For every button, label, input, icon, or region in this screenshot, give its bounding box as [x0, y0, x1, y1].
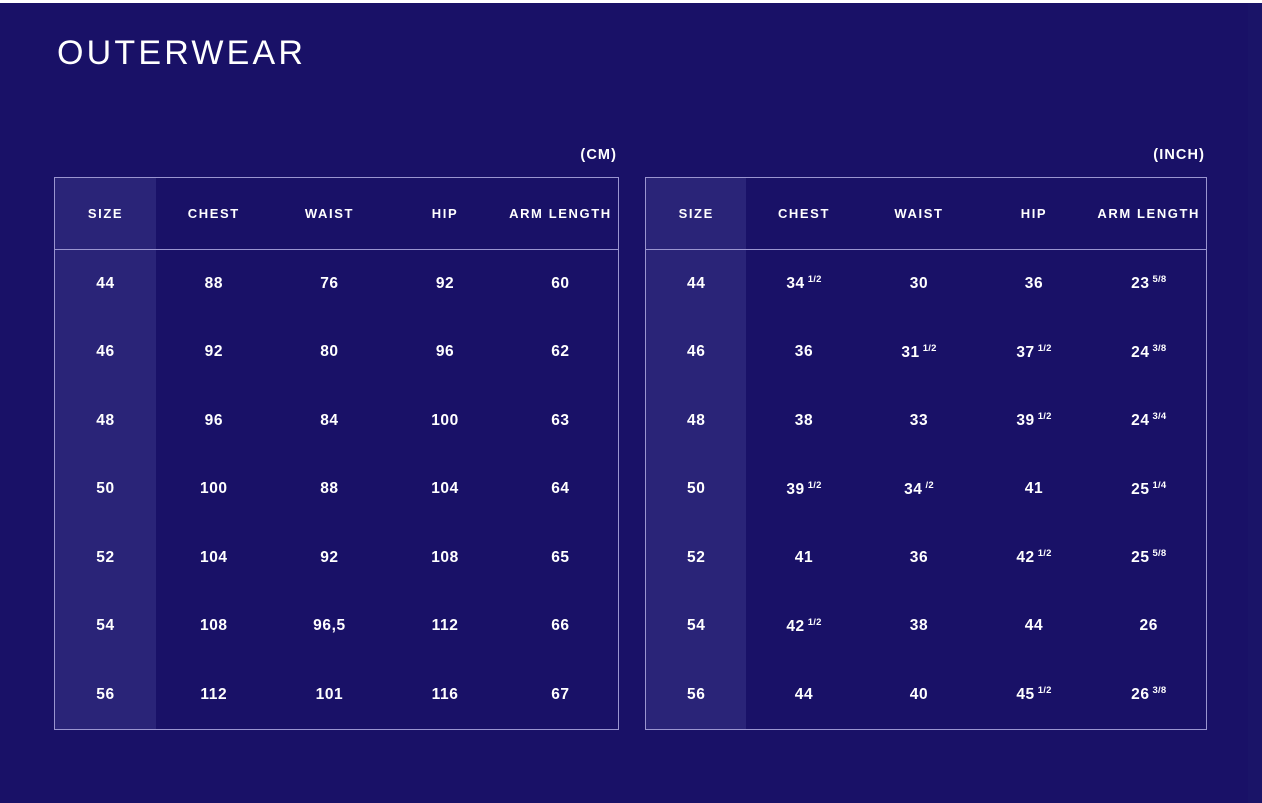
cell-chest: 92: [156, 318, 272, 387]
cell-value: 371/2: [1016, 343, 1051, 362]
cell-hip: 451/2: [976, 661, 1091, 730]
column-header-waist: WAIST: [272, 178, 388, 250]
cell-value: 30: [910, 275, 928, 293]
cell-value: 421/2: [786, 617, 821, 636]
table-row: 44341/23036235/8: [646, 250, 1207, 319]
cell-fraction: 1/2: [808, 274, 822, 285]
cell-hip: 92: [387, 250, 503, 319]
column-header-hip: HIP: [976, 178, 1091, 250]
cell-size: 54: [55, 592, 157, 661]
cell-whole-number: 38: [910, 617, 928, 634]
cell-whole-number: 34: [904, 481, 922, 498]
cell-fraction: 1/4: [1153, 480, 1167, 491]
page-edge: [1248, 3, 1262, 803]
cell-value: 54: [687, 617, 705, 635]
cell-value: 243/4: [1131, 411, 1166, 430]
cell-arm-length: 66: [503, 592, 619, 661]
cell-hip: 391/2: [976, 387, 1091, 456]
unit-label-inch: (INCH): [645, 145, 1207, 177]
cell-waist: 311/2: [861, 318, 976, 387]
cell-value: 235/8: [1131, 274, 1166, 293]
cell-chest: 100: [156, 455, 272, 524]
cell-whole-number: 44: [687, 275, 705, 292]
cell-fraction: 3/8: [1153, 685, 1167, 696]
cell-hip: 371/2: [976, 318, 1091, 387]
column-header-arm-length: ARM LENGTH: [503, 178, 619, 250]
cell-chest: 104: [156, 524, 272, 593]
cell-chest: 41: [746, 524, 861, 593]
cell-value: 341/2: [786, 274, 821, 293]
cell-whole-number: 37: [1016, 344, 1034, 361]
cell-value: 36: [1025, 275, 1043, 293]
cell-whole-number: 41: [795, 549, 813, 566]
cell-arm-length: 235/8: [1091, 250, 1206, 319]
cell-whole-number: 56: [687, 686, 705, 703]
cell-size: 50: [55, 455, 157, 524]
cell-size: 56: [646, 661, 747, 730]
cell-size: 48: [646, 387, 747, 456]
table-row: 524136421/2255/8: [646, 524, 1207, 593]
page-title: OUTERWEAR: [57, 31, 306, 75]
cell-fraction: 3/4: [1153, 411, 1167, 422]
cell-chest: 88: [156, 250, 272, 319]
cell-value: 36: [795, 343, 813, 361]
column-header-size: SIZE: [55, 178, 157, 250]
cell-whole-number: 42: [786, 618, 804, 635]
cell-value: 26: [1140, 617, 1158, 635]
cell-waist: 34/2: [861, 455, 976, 524]
cell-waist: 36: [861, 524, 976, 593]
cell-waist: 101: [272, 661, 388, 730]
cell-hip: 96: [387, 318, 503, 387]
cell-whole-number: 50: [687, 480, 705, 497]
size-table-cm-block: (CM) SIZE CHEST WAIST HIP ARM LENGTH 448…: [54, 145, 619, 730]
cell-chest: 112: [156, 661, 272, 730]
cell-arm-length: 243/8: [1091, 318, 1206, 387]
cell-value: 311/2: [901, 343, 936, 362]
size-chart-page: OUTERWEAR (CM) SIZE CHEST WAIST HIP ARM …: [0, 3, 1248, 803]
cell-whole-number: 44: [1025, 617, 1043, 634]
cell-chest: 38: [746, 387, 861, 456]
cell-whole-number: 36: [910, 549, 928, 566]
cell-whole-number: 26: [1140, 617, 1158, 634]
column-header-size: SIZE: [646, 178, 747, 250]
cell-whole-number: 34: [786, 276, 804, 293]
cell-value: 48: [687, 412, 705, 430]
cell-fraction: 1/2: [1038, 548, 1052, 559]
cell-arm-length: 62: [503, 318, 619, 387]
cell-whole-number: 23: [1131, 276, 1149, 293]
cell-fraction: 1/2: [808, 617, 822, 628]
cell-whole-number: 40: [910, 686, 928, 703]
cell-value: 52: [687, 549, 705, 567]
cell-chest: 96: [156, 387, 272, 456]
cell-size: 56: [55, 661, 157, 730]
cell-whole-number: 44: [795, 686, 813, 703]
cell-whole-number: 30: [910, 275, 928, 292]
table-row: 54421/2384426: [646, 592, 1207, 661]
cell-hip: 36: [976, 250, 1091, 319]
cell-whole-number: 45: [1016, 686, 1034, 703]
cell-whole-number: 38: [795, 412, 813, 429]
cell-chest: 108: [156, 592, 272, 661]
cell-arm-length: 63: [503, 387, 619, 456]
cell-whole-number: 36: [1025, 275, 1043, 292]
cell-hip: 108: [387, 524, 503, 593]
cell-value: 41: [1025, 480, 1043, 498]
cell-whole-number: 39: [786, 481, 804, 498]
cell-value: 46: [687, 343, 705, 361]
cell-size: 46: [55, 318, 157, 387]
cell-value: 243/8: [1131, 343, 1166, 362]
cell-value: 56: [687, 686, 705, 704]
cell-value: 44: [795, 686, 813, 704]
cell-value: 44: [687, 275, 705, 293]
cell-whole-number: 54: [687, 617, 705, 634]
cell-whole-number: 31: [901, 344, 919, 361]
table-row: 5410896,511266: [55, 592, 619, 661]
cell-size: 46: [646, 318, 747, 387]
cell-arm-length: 60: [503, 250, 619, 319]
cell-whole-number: 36: [795, 343, 813, 360]
cell-whole-number: 24: [1131, 344, 1149, 361]
cell-hip: 421/2: [976, 524, 1091, 593]
cell-fraction: 1/2: [923, 343, 937, 354]
table-row: 4692809662: [55, 318, 619, 387]
cell-fraction: 1/2: [1038, 685, 1052, 696]
cell-waist: 80: [272, 318, 388, 387]
cell-waist: 33: [861, 387, 976, 456]
cell-value: 41: [795, 549, 813, 567]
cell-arm-length: 255/8: [1091, 524, 1206, 593]
cell-arm-length: 263/8: [1091, 661, 1206, 730]
table-row: 4636311/2371/2243/8: [646, 318, 1207, 387]
cell-hip: 116: [387, 661, 503, 730]
cell-size: 54: [646, 592, 747, 661]
cell-value: 451/2: [1016, 685, 1051, 704]
size-table-inch-body: 44341/23036235/84636311/2371/2243/848383…: [646, 250, 1207, 730]
cell-value: 34/2: [904, 480, 934, 499]
table-row: 5611210111667: [55, 661, 619, 730]
cell-chest: 421/2: [746, 592, 861, 661]
table-row: 483833391/2243/4: [646, 387, 1207, 456]
cell-waist: 84: [272, 387, 388, 456]
cell-value: 391/2: [786, 480, 821, 499]
cell-whole-number: 33: [910, 412, 928, 429]
cell-chest: 36: [746, 318, 861, 387]
cell-whole-number: 25: [1131, 549, 1149, 566]
cell-arm-length: 243/4: [1091, 387, 1206, 456]
cell-size: 50: [646, 455, 747, 524]
unit-label-cm: (CM): [54, 145, 619, 177]
cell-waist: 30: [861, 250, 976, 319]
cell-value: 33: [910, 412, 928, 430]
column-header-chest: CHEST: [156, 178, 272, 250]
table-header-row: SIZE CHEST WAIST HIP ARM LENGTH: [646, 178, 1207, 250]
cell-whole-number: 48: [687, 412, 705, 429]
table-row: 501008810464: [55, 455, 619, 524]
cell-whole-number: 24: [1131, 412, 1149, 429]
cell-fraction: 5/8: [1153, 548, 1167, 559]
cell-chest: 341/2: [746, 250, 861, 319]
cell-value: 38: [795, 412, 813, 430]
cell-whole-number: 41: [1025, 480, 1043, 497]
cell-value: 263/8: [1131, 685, 1166, 704]
cell-value: 36: [910, 549, 928, 567]
cell-waist: 88: [272, 455, 388, 524]
column-header-hip: HIP: [387, 178, 503, 250]
cell-value: 421/2: [1016, 548, 1051, 567]
cell-waist: 38: [861, 592, 976, 661]
cell-chest: 44: [746, 661, 861, 730]
cell-hip: 100: [387, 387, 503, 456]
cell-value: 50: [687, 480, 705, 498]
column-header-waist: WAIST: [861, 178, 976, 250]
size-table-cm-head: SIZE CHEST WAIST HIP ARM LENGTH: [55, 178, 619, 250]
size-table-cm: SIZE CHEST WAIST HIP ARM LENGTH 44887692…: [54, 177, 619, 730]
size-table-inch: SIZE CHEST WAIST HIP ARM LENGTH 44341/23…: [645, 177, 1207, 730]
cell-size: 44: [646, 250, 747, 319]
cell-fraction: /2: [926, 480, 934, 491]
cell-waist: 76: [272, 250, 388, 319]
cell-size: 52: [646, 524, 747, 593]
cell-size: 52: [55, 524, 157, 593]
cell-size: 44: [55, 250, 157, 319]
table-row: 48968410063: [55, 387, 619, 456]
cell-arm-length: 65: [503, 524, 619, 593]
cell-waist: 96,5: [272, 592, 388, 661]
cell-arm-length: 26: [1091, 592, 1206, 661]
cell-chest: 391/2: [746, 455, 861, 524]
size-table-inch-head: SIZE CHEST WAIST HIP ARM LENGTH: [646, 178, 1207, 250]
cell-value: 40: [910, 686, 928, 704]
cell-hip: 104: [387, 455, 503, 524]
cell-arm-length: 251/4: [1091, 455, 1206, 524]
cell-whole-number: 46: [687, 343, 705, 360]
size-table-cm-body: 4488769260469280966248968410063501008810…: [55, 250, 619, 730]
cell-value: 44: [1025, 617, 1043, 635]
table-row: 564440451/2263/8: [646, 661, 1207, 730]
cell-fraction: 1/2: [808, 480, 822, 491]
cell-size: 48: [55, 387, 157, 456]
table-row: 4488769260: [55, 250, 619, 319]
table-header-row: SIZE CHEST WAIST HIP ARM LENGTH: [55, 178, 619, 250]
cell-fraction: 1/2: [1038, 343, 1052, 354]
cell-value: 38: [910, 617, 928, 635]
column-header-arm-length: ARM LENGTH: [1091, 178, 1206, 250]
table-row: 521049210865: [55, 524, 619, 593]
cell-whole-number: 26: [1131, 686, 1149, 703]
cell-value: 255/8: [1131, 548, 1166, 567]
cell-whole-number: 39: [1016, 412, 1034, 429]
column-header-chest: CHEST: [746, 178, 861, 250]
cell-whole-number: 25: [1131, 481, 1149, 498]
cell-value: 251/4: [1131, 480, 1166, 499]
cell-fraction: 3/8: [1153, 343, 1167, 354]
cell-fraction: 1/2: [1038, 411, 1052, 422]
cell-value: 391/2: [1016, 411, 1051, 430]
cell-waist: 40: [861, 661, 976, 730]
cell-arm-length: 67: [503, 661, 619, 730]
table-row: 50391/234/241251/4: [646, 455, 1207, 524]
size-table-inch-block: (INCH) SIZE CHEST WAIST HIP ARM LENGTH 4…: [645, 145, 1207, 730]
cell-whole-number: 42: [1016, 549, 1034, 566]
cell-fraction: 5/8: [1153, 274, 1167, 285]
cell-hip: 41: [976, 455, 1091, 524]
cell-hip: 44: [976, 592, 1091, 661]
cell-whole-number: 52: [687, 549, 705, 566]
cell-arm-length: 64: [503, 455, 619, 524]
cell-waist: 92: [272, 524, 388, 593]
cell-hip: 112: [387, 592, 503, 661]
